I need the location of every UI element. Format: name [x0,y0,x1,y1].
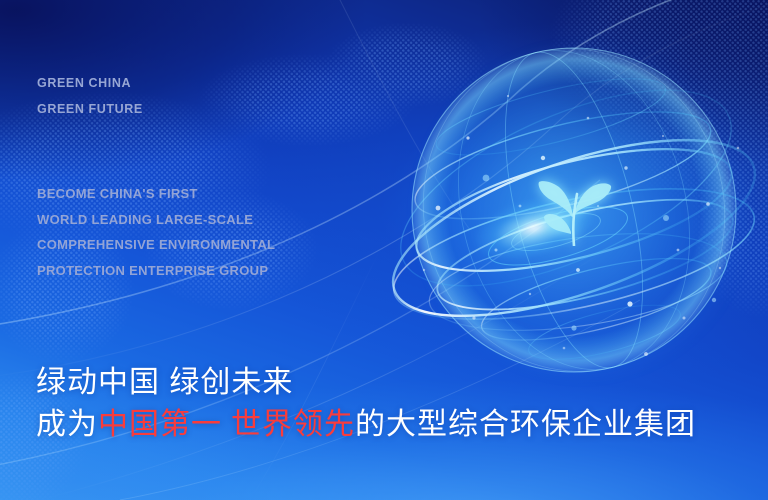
tagline-line-1: GREEN CHINA [37,70,143,96]
headline-highlight-world-leading: 世界领先 [231,408,355,441]
headline-highlight-china-first: 中国第一 [98,408,222,441]
tagline-english-top: GREEN CHINA GREEN FUTURE [37,70,143,122]
mission-english-block: BECOME CHINA'S FIRST WORLD LEADING LARGE… [37,181,275,283]
mission-line-3: COMPREHENSIVE ENVIRONMENTAL [37,232,275,258]
mission-line-4: PROTECTION ENTERPRISE GROUP [37,258,275,284]
headline-line-1: 绿动中国 绿创未来 [36,362,696,404]
headline-line-2: 成为中国第一世界领先的大型综合环保企业集团 [36,404,696,446]
mission-line-1: BECOME CHINA'S FIRST [37,181,275,207]
tagline-line-2: GREEN FUTURE [37,96,143,122]
eco-group-hero-banner: GREEN CHINA GREEN FUTURE BECOME CHINA'S … [0,0,768,500]
headline-suffix: 的大型综合环保企业集团 [355,408,696,441]
sprout-seedling-icon [533,160,613,246]
headline-prefix: 成为 [36,408,98,441]
mission-line-2: WORLD LEADING LARGE-SCALE [37,207,275,233]
headline-chinese-block: 绿动中国 绿创未来 成为中国第一世界领先的大型综合环保企业集团 [36,362,696,446]
